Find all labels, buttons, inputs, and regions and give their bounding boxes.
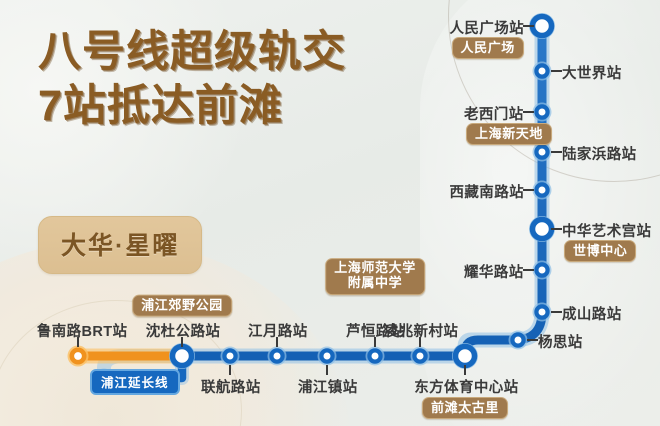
- station-badge-laoximen: 上海新天地: [466, 123, 552, 145]
- badge-line: 上海师范大学: [334, 261, 416, 276]
- badge-line: 附属中学: [334, 276, 416, 291]
- station-label-lujiabang-road: 陆家浜路站: [562, 143, 637, 164]
- station-tick-dashijie: [551, 70, 562, 72]
- badge-line: 前滩太古里: [431, 400, 499, 415]
- badge-line: 浦江郊野公园: [141, 298, 223, 313]
- station-label-luheng-road: 芦恒路站: [346, 320, 406, 341]
- station-tick-pujiangzhen: [326, 365, 328, 375]
- station-label-lunan-road-brt: 鲁南路BRT站: [37, 320, 128, 341]
- station-badge-china-art-museum: 世博中心: [564, 240, 636, 262]
- station-tick-china-art-museum: [551, 228, 562, 230]
- station-label-oriental-sports: 东方体育中心站: [414, 376, 518, 397]
- station-tick-lianhang-road: [229, 365, 231, 375]
- station-badge-renmin-square: 人民广场: [452, 37, 524, 59]
- badge-line: 上海新天地: [475, 126, 543, 141]
- station-label-yaohua-road: 耀华路站: [464, 261, 524, 282]
- station-label-jiangyue-road: 江月路站: [248, 320, 308, 341]
- station-tick-yaohua-road: [523, 269, 534, 271]
- station-tick-laoximen: [523, 111, 534, 113]
- station-label-renmin-square: 人民广场站: [450, 17, 525, 38]
- station-label-xizang-south-road: 西藏南路站: [450, 181, 525, 202]
- station-tick-oriental-sports: [464, 365, 466, 375]
- station-label-layer: 人民广场站人民广场大世界站老西门站上海新天地陆家浜路站西藏南路站中华艺术宫站世博…: [0, 0, 660, 426]
- station-badge-shendu-highway: 浦江郊野公园: [132, 295, 232, 317]
- station-label-laoximen: 老西门站: [464, 103, 524, 124]
- station-tick-lujiabang-road: [551, 151, 562, 153]
- station-label-yangsi: 杨思站: [538, 331, 583, 352]
- poster-canvas: 八号线超级轨交 7站抵达前滩 大华·星曜: [0, 0, 660, 426]
- pujiang-extension-label: 浦江延长线: [90, 369, 180, 395]
- station-tick-renmin-square: [523, 25, 534, 27]
- station-label-china-art-museum: 中华艺术宫站: [562, 220, 651, 241]
- station-label-chengshan-road: 成山路站: [562, 303, 622, 324]
- station-label-lianhang-road: 联航路站: [201, 376, 261, 397]
- station-label-dashijie: 大世界站: [562, 62, 622, 83]
- station-label-shendu-highway: 沈杜公路站: [146, 320, 221, 341]
- station-tick-yangsi: [527, 339, 538, 341]
- station-badge-oriental-sports: 前滩太古里: [422, 397, 508, 419]
- station-tick-xizang-south-road: [523, 189, 534, 191]
- station-tick-chengshan-road: [551, 311, 562, 313]
- station-label-pujiangzhen: 浦江镇站: [298, 376, 358, 397]
- badge-line: 世博中心: [573, 243, 627, 258]
- badge-line: 人民广场: [461, 40, 515, 55]
- station-badge-luheng-road: 上海师范大学附属中学: [325, 258, 425, 295]
